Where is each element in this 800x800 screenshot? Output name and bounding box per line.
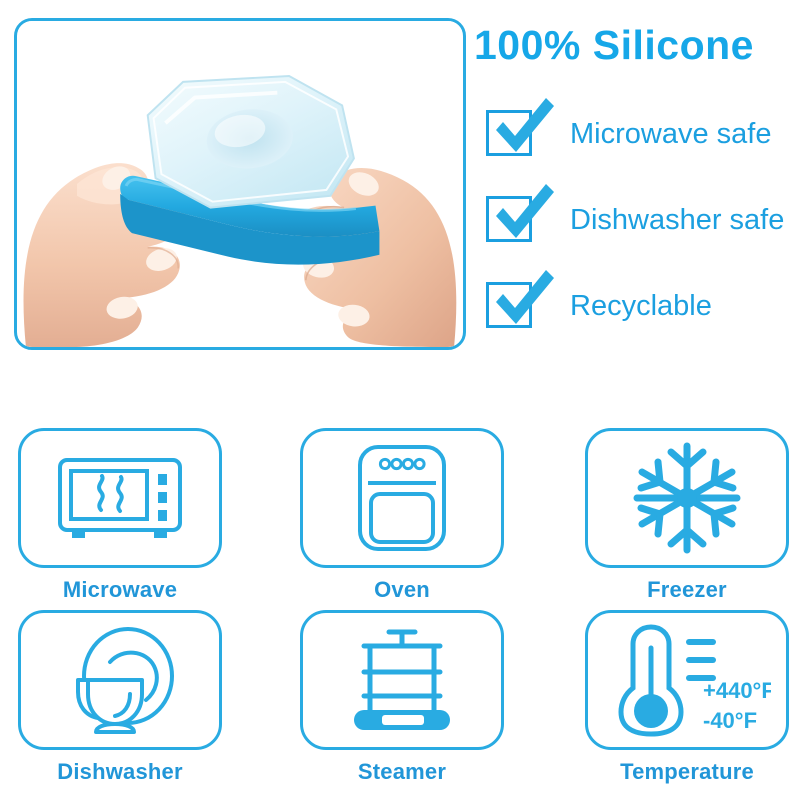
checklist-label: Dishwasher safe xyxy=(570,200,784,240)
feature-tile-temperature: +440°F -40°F Temperature xyxy=(585,610,789,785)
microwave-icon xyxy=(54,448,186,548)
checklist-label: Microwave safe xyxy=(570,114,771,154)
feature-label: Dishwasher xyxy=(18,759,222,785)
feature-tile-box: +440°F -40°F xyxy=(585,610,789,750)
tray-lid xyxy=(148,76,354,208)
dishes-icon xyxy=(60,624,180,736)
oven-icon xyxy=(354,442,450,554)
feature-label: Temperature xyxy=(585,759,789,785)
feature-tile-box xyxy=(18,610,222,750)
feature-tile-box xyxy=(585,428,789,568)
feature-tile-box xyxy=(300,610,504,750)
checklist-item: Microwave safe xyxy=(486,104,800,190)
product-photo xyxy=(17,21,463,347)
feature-tile-box xyxy=(18,428,222,568)
feature-checklist: Microwave safe Dishwasher safe Recyclabl… xyxy=(486,104,800,362)
feature-label: Steamer xyxy=(300,759,504,785)
feature-tile-oven: Oven xyxy=(300,428,504,603)
snowflake-icon xyxy=(629,440,745,556)
checklist-item: Dishwasher safe xyxy=(486,190,800,276)
check-icon xyxy=(490,184,556,246)
feature-tile-microwave: Microwave xyxy=(18,428,222,603)
feature-tile-steamer: Steamer xyxy=(300,610,504,785)
infographic-page: 100% Silicone Microwave safe Dishwasher … xyxy=(0,0,800,800)
product-photo-frame xyxy=(14,18,466,350)
feature-tile-dishwasher: Dishwasher xyxy=(18,610,222,785)
temperature-min: -40°F xyxy=(703,708,757,733)
thermometer-icon: +440°F -40°F xyxy=(603,622,771,738)
feature-label: Microwave xyxy=(18,577,222,603)
feature-tile-box xyxy=(300,428,504,568)
checklist-label: Recyclable xyxy=(570,286,712,326)
checklist-item: Recyclable xyxy=(486,276,800,362)
page-title: 100% Silicone xyxy=(474,20,794,70)
feature-tile-freezer: Freezer xyxy=(585,428,789,603)
temperature-max: +440°F xyxy=(703,678,771,703)
feature-label: Freezer xyxy=(585,577,789,603)
check-icon xyxy=(490,270,556,332)
feature-label: Oven xyxy=(300,577,504,603)
steamer-icon xyxy=(344,624,460,736)
feature-tile-grid: Microwave Oven xyxy=(0,424,800,800)
check-icon xyxy=(490,98,556,160)
